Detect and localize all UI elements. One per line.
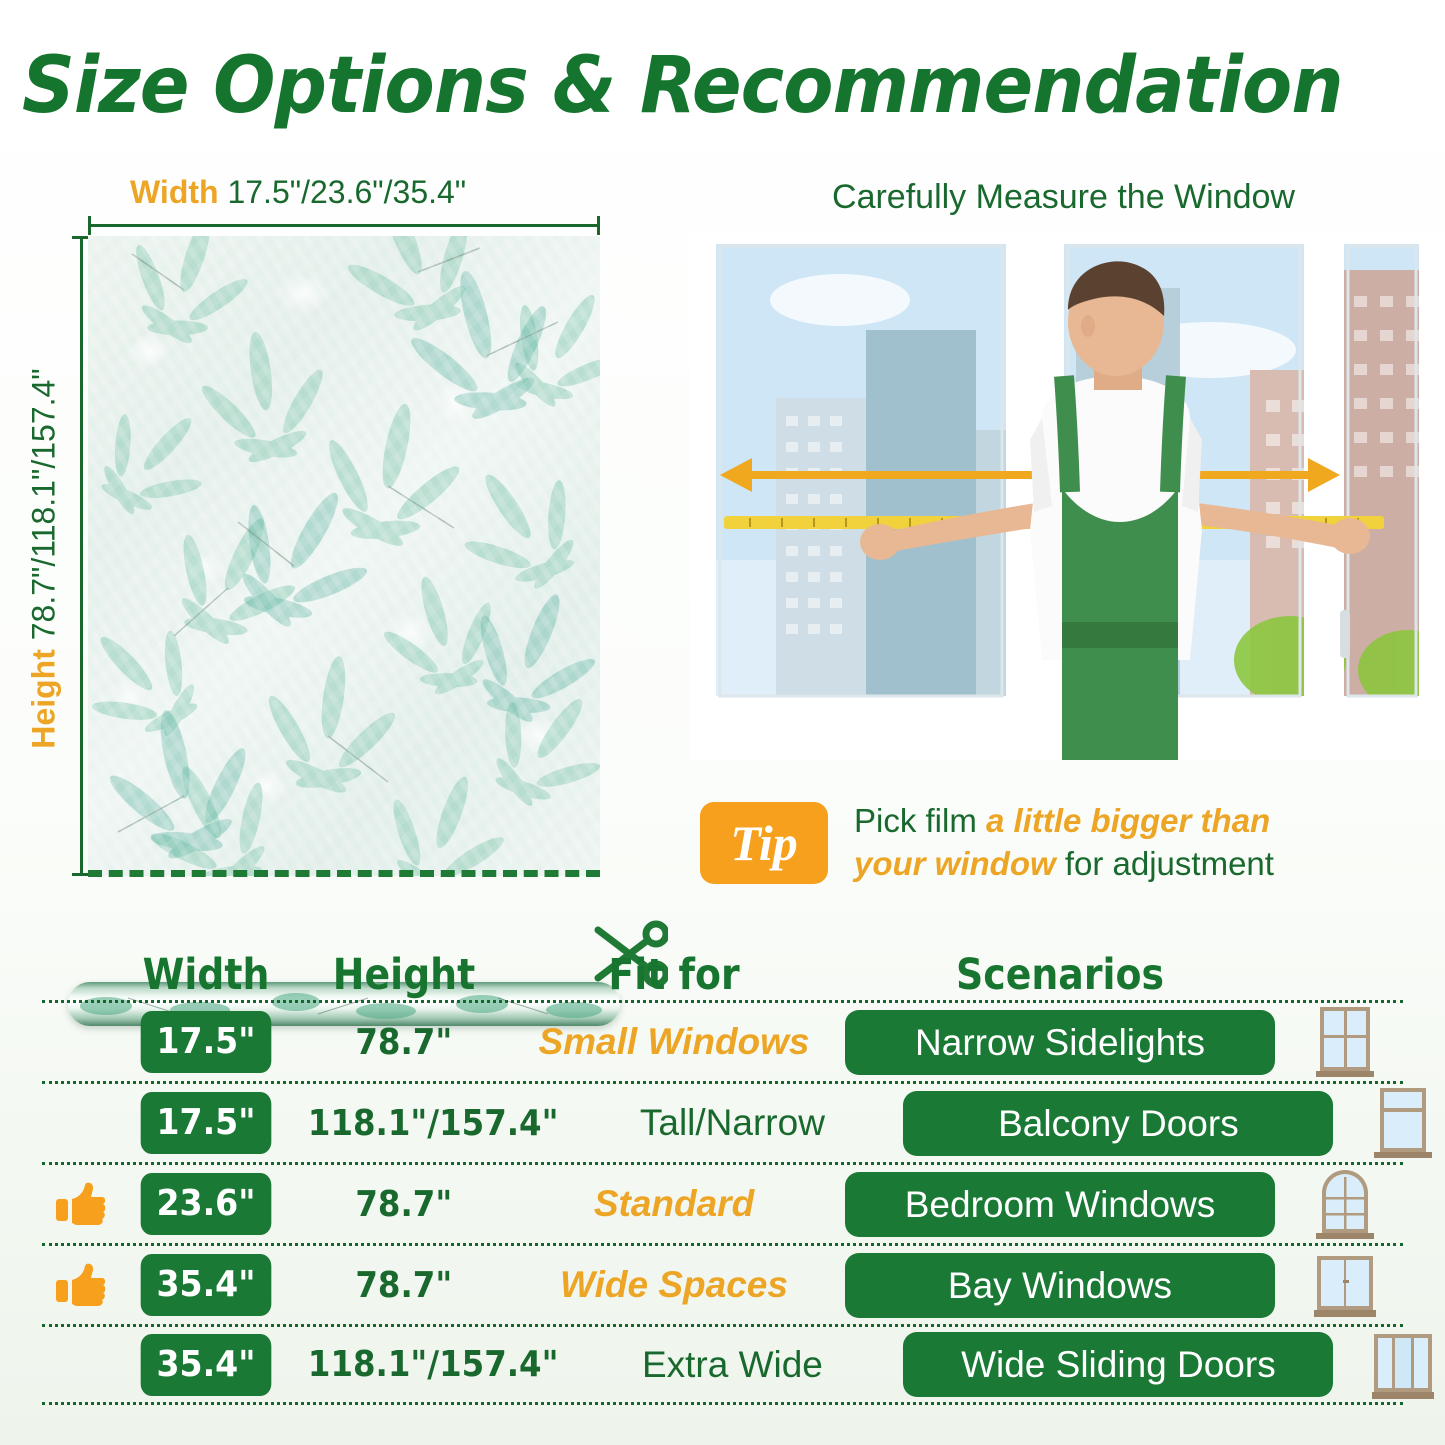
window-icon-cell bbox=[1286, 1246, 1403, 1324]
tip-badge: Tip bbox=[700, 802, 828, 884]
recommend-mark-cell bbox=[42, 1327, 118, 1402]
scenario-pill: Bay Windows bbox=[845, 1253, 1275, 1318]
height-cell: 118.1"/157.4" bbox=[294, 1084, 572, 1162]
tip-line2-orange: your window bbox=[854, 845, 1056, 882]
fit-value: Standard bbox=[594, 1183, 754, 1225]
height-cell: 118.1"/157.4" bbox=[294, 1327, 572, 1402]
width-values-text: 17.5"/23.6"/35.4" bbox=[227, 174, 466, 210]
recommend-mark-cell bbox=[42, 1003, 118, 1081]
height-cell: 78.7" bbox=[294, 1246, 514, 1324]
width-pill: 35.4" bbox=[141, 1254, 272, 1316]
scenario-cell: Wide Sliding Doors bbox=[892, 1327, 1344, 1402]
window-icon-cell bbox=[1286, 1003, 1403, 1081]
recommend-mark-cell bbox=[42, 1246, 118, 1324]
infographic-page: Size Options & Recommendation Width 17.5… bbox=[0, 0, 1445, 1445]
scenario-pill: Bedroom Windows bbox=[845, 1172, 1275, 1237]
width-measure-rule bbox=[88, 216, 600, 234]
fit-value: Small Windows bbox=[538, 1021, 809, 1063]
thumbs-up-icon bbox=[54, 1181, 106, 1227]
thumbs-up-icon bbox=[54, 1262, 106, 1308]
width-rule-cap-right bbox=[597, 216, 600, 235]
arched-window-icon bbox=[1314, 1167, 1376, 1241]
table-row: 35.4" 78.7" Wide Spaces Bay Windows bbox=[42, 1243, 1403, 1324]
height-value: 78.7" bbox=[356, 1184, 453, 1225]
scenario-pill: Narrow Sidelights bbox=[845, 1010, 1275, 1075]
single-hung-window-icon bbox=[1314, 1005, 1376, 1079]
height-cell: 78.7" bbox=[294, 1003, 514, 1081]
table-row: 35.4" 118.1"/157.4" Extra Wide Wide Slid… bbox=[42, 1324, 1403, 1405]
width-dimension-label: Width 17.5"/23.6"/35.4" bbox=[130, 174, 466, 211]
tip-line1-green: Pick film bbox=[854, 802, 977, 839]
tip-line1-orange: a little bigger than bbox=[986, 802, 1270, 839]
recommend-mark-cell bbox=[42, 1084, 118, 1162]
fit-value: Tall/Narrow bbox=[640, 1102, 825, 1144]
tip-row: Tip Pick film a little bigger than your … bbox=[700, 790, 1445, 896]
height-value: 118.1"/157.4" bbox=[308, 1344, 559, 1385]
tip-text: Pick film a little bigger than your wind… bbox=[854, 800, 1274, 886]
scenario-pill: Balcony Doors bbox=[903, 1091, 1333, 1156]
table-header-row: Width Height Fit for Scenarios bbox=[42, 928, 1403, 1000]
double-casement-window-icon bbox=[1314, 1248, 1376, 1322]
window-icon-cell bbox=[1286, 1165, 1403, 1243]
scenario-cell: Narrow Sidelights bbox=[834, 1003, 1286, 1081]
scenario-cell: Bay Windows bbox=[834, 1246, 1286, 1324]
height-value: 78.7" bbox=[356, 1265, 453, 1306]
fit-cell: Standard bbox=[514, 1165, 834, 1243]
transom-tall-window-icon bbox=[1372, 1086, 1434, 1160]
width-pill: 23.6" bbox=[141, 1173, 272, 1235]
width-pill: 35.4" bbox=[141, 1334, 272, 1396]
tip-badge-label: Tip bbox=[730, 818, 798, 868]
fit-cell: Wide Spaces bbox=[514, 1246, 834, 1324]
window-icon-cell bbox=[1344, 1084, 1445, 1162]
height-label-text: Height bbox=[26, 649, 62, 749]
fit-cell: Tall/Narrow bbox=[572, 1084, 892, 1162]
triple-sliding-door-icon bbox=[1372, 1328, 1434, 1402]
fit-cell: Small Windows bbox=[514, 1003, 834, 1081]
width-cell: 35.4" bbox=[118, 1246, 294, 1324]
width-cell: 23.6" bbox=[118, 1165, 294, 1243]
table-row: 17.5" 78.7" Small Windows Narrow Sidelig… bbox=[42, 1000, 1403, 1081]
height-dimension-label: Height 78.7"/118.1"/157.4" bbox=[26, 279, 63, 839]
table-row: 23.6" 78.7" Standard Bedroom Windows bbox=[42, 1162, 1403, 1243]
fit-cell: Extra Wide bbox=[572, 1327, 892, 1402]
table-row: 17.5" 118.1"/157.4" Tall/Narrow Balcony … bbox=[42, 1081, 1403, 1162]
height-value: 118.1"/157.4" bbox=[308, 1103, 559, 1144]
window-icon-cell bbox=[1344, 1327, 1445, 1402]
cut-dashed-line bbox=[88, 870, 600, 877]
scenario-cell: Balcony Doors bbox=[892, 1084, 1344, 1162]
height-value: 78.7" bbox=[356, 1022, 453, 1063]
width-pill: 17.5" bbox=[141, 1011, 272, 1073]
width-cell: 35.4" bbox=[118, 1327, 294, 1402]
size-recommendation-table: Width Height Fit for Scenarios 17.5" 78.… bbox=[42, 928, 1403, 1405]
width-cell: 17.5" bbox=[118, 1084, 294, 1162]
scenario-cell: Bedroom Windows bbox=[834, 1165, 1286, 1243]
scenario-pill: Wide Sliding Doors bbox=[903, 1332, 1333, 1397]
header-height: Height bbox=[307, 950, 501, 1000]
width-cell: 17.5" bbox=[118, 1003, 294, 1081]
tip-line2-green: for adjustment bbox=[1065, 845, 1274, 882]
product-swatch-panel: Width 17.5"/23.6"/35.4" Height 78.7"/118… bbox=[0, 150, 680, 920]
page-title: Size Options & Recommendation bbox=[22, 41, 1343, 131]
header-scenarios: Scenarios bbox=[861, 950, 1259, 1000]
width-pill: 17.5" bbox=[141, 1092, 272, 1154]
leaf-pattern-icon bbox=[88, 236, 600, 876]
height-values-text: 78.7"/118.1"/157.4" bbox=[26, 368, 62, 640]
measure-photo bbox=[690, 230, 1445, 760]
page-title-bar: Size Options & Recommendation bbox=[0, 38, 1445, 134]
fit-value: Wide Spaces bbox=[560, 1264, 788, 1306]
fit-value: Extra Wide bbox=[642, 1344, 823, 1386]
width-label-text: Width bbox=[130, 174, 219, 210]
window-film-swatch bbox=[88, 236, 600, 876]
height-rule-bar bbox=[80, 236, 83, 876]
width-rule-bar bbox=[88, 224, 600, 227]
header-width: Width bbox=[129, 950, 284, 1000]
measure-photo-title: Carefully Measure the Window bbox=[682, 178, 1445, 217]
recommend-mark-cell bbox=[42, 1165, 118, 1243]
height-cell: 78.7" bbox=[294, 1165, 514, 1243]
header-fit-for: Fit for bbox=[533, 950, 815, 1000]
man-measuring-window-photo-icon bbox=[690, 230, 1445, 760]
